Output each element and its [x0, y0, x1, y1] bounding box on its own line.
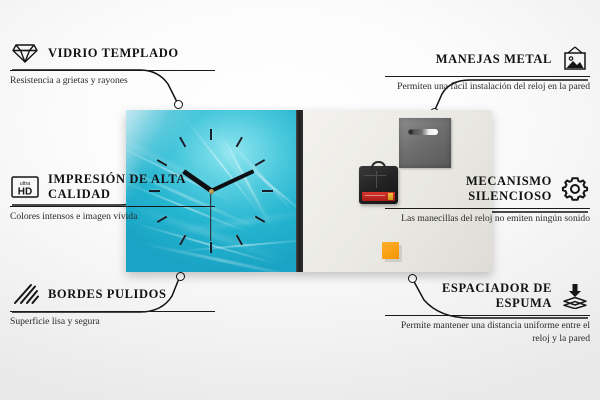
foam-spacer-icon	[560, 283, 590, 309]
feature-description: Permiten una fácil instalación del reloj…	[385, 81, 590, 94]
feature-description: Colores intensos e imagen vívida	[10, 211, 215, 224]
mechanism-seam	[376, 171, 377, 188]
feature-title: IMPRESIÓN DE ALTA CALIDAD	[48, 172, 215, 202]
endpoint-dot-left-1	[174, 100, 183, 109]
svg-text:HD: HD	[18, 186, 32, 197]
diamond-icon	[10, 40, 40, 66]
feature-divider	[385, 76, 590, 77]
feature-description: Superficie lisa y segura	[10, 316, 215, 329]
feature-divider	[385, 208, 590, 209]
ultra-hd-icon: ultra HD	[10, 174, 40, 200]
hanger-keyhole	[409, 130, 413, 134]
feature-espaciador-espuma: ESPACIADOR DE ESPUMA Permite mantener un…	[385, 281, 590, 346]
gear-icon	[560, 176, 590, 202]
feature-divider	[10, 206, 215, 207]
mechanism-hanger-loop	[371, 161, 386, 170]
feature-vidrio-templado: VIDRIO TEMPLADO Resistencia a grietas y …	[10, 40, 215, 88]
feature-description: Permite mantener una distancia uniforme …	[385, 320, 590, 346]
feature-title: VIDRIO TEMPLADO	[48, 46, 179, 61]
feature-manejas-metal: MANEJAS METAL Permiten una fácil instala…	[385, 46, 590, 94]
hour-tick	[211, 190, 273, 192]
feature-title: BORDES PULIDOS	[48, 287, 167, 302]
polished-edges-icon	[10, 281, 40, 307]
feature-divider	[10, 311, 215, 312]
glass-edge	[296, 110, 303, 272]
endpoint-dot-left-3	[176, 272, 185, 281]
infographic-canvas: VIDRIO TEMPLADO Resistencia a grietas y …	[0, 0, 600, 400]
orange-foam-spacer	[382, 242, 399, 259]
feature-impresion-alta-calidad: ultra HD IMPRESIÓN DE ALTA CALIDAD Color…	[10, 172, 215, 224]
feature-mecanismo-silencioso: MECANISMO SILENCIOSO Las manecillas del …	[385, 174, 590, 226]
feature-bordes-pulidos: BORDES PULIDOS Superficie lisa y segura	[10, 281, 215, 329]
feature-description: Resistencia a grietas y rayones	[10, 75, 215, 88]
picture-frame-hanger-icon	[560, 46, 590, 72]
mechanism-seam	[364, 175, 386, 176]
feature-title: MECANISMO SILENCIOSO	[385, 174, 552, 204]
feature-title: MANEJAS METAL	[436, 52, 552, 67]
feature-divider	[10, 70, 215, 71]
feature-divider	[385, 315, 590, 316]
feature-description: Las manecillas del reloj no emiten ningú…	[385, 213, 590, 226]
feature-title: ESPACIADOR DE ESPUMA	[385, 281, 552, 311]
metal-hanger-plate	[399, 118, 451, 168]
